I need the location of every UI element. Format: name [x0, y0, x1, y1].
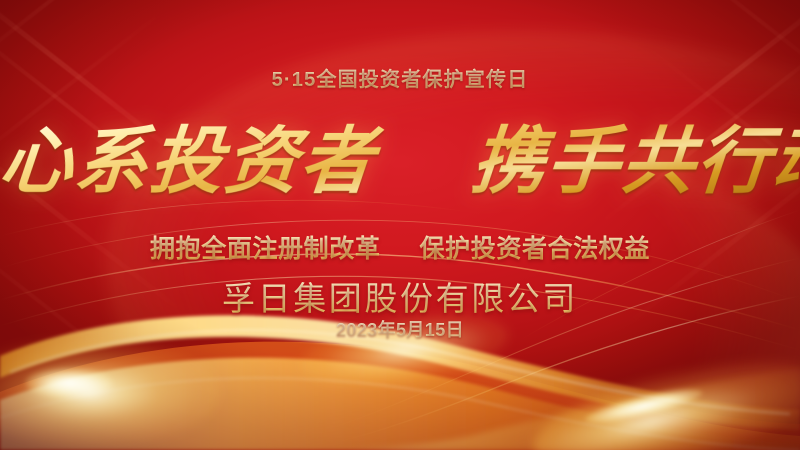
poster-headline: 心系投资者 携手共行动: [0, 118, 800, 204]
poster-tagline: 拥抱全面注册制改革 保护投资者合法权益: [0, 229, 800, 265]
event-date: 2023年5月15日: [0, 316, 800, 342]
headline-phrase-right: 携手共行动: [468, 118, 800, 204]
tagline-phrase-left: 拥抱全面注册制改革: [150, 235, 380, 263]
company-name: 孚日集团股份有限公司: [0, 272, 800, 320]
poster-canvas: 5·15全国投资者保护宣传日 心系投资者 携手共行动 拥抱全面注册制改革 保护投…: [0, 0, 800, 450]
campaign-subtitle: 5·15全国投资者保护宣传日: [0, 63, 800, 92]
tagline-phrase-right: 保护投资者合法权益: [420, 235, 650, 263]
headline-phrase-left: 心系投资者: [0, 118, 379, 204]
poster-content: 5·15全国投资者保护宣传日 心系投资者 携手共行动 拥抱全面注册制改革 保护投…: [0, 0, 800, 450]
